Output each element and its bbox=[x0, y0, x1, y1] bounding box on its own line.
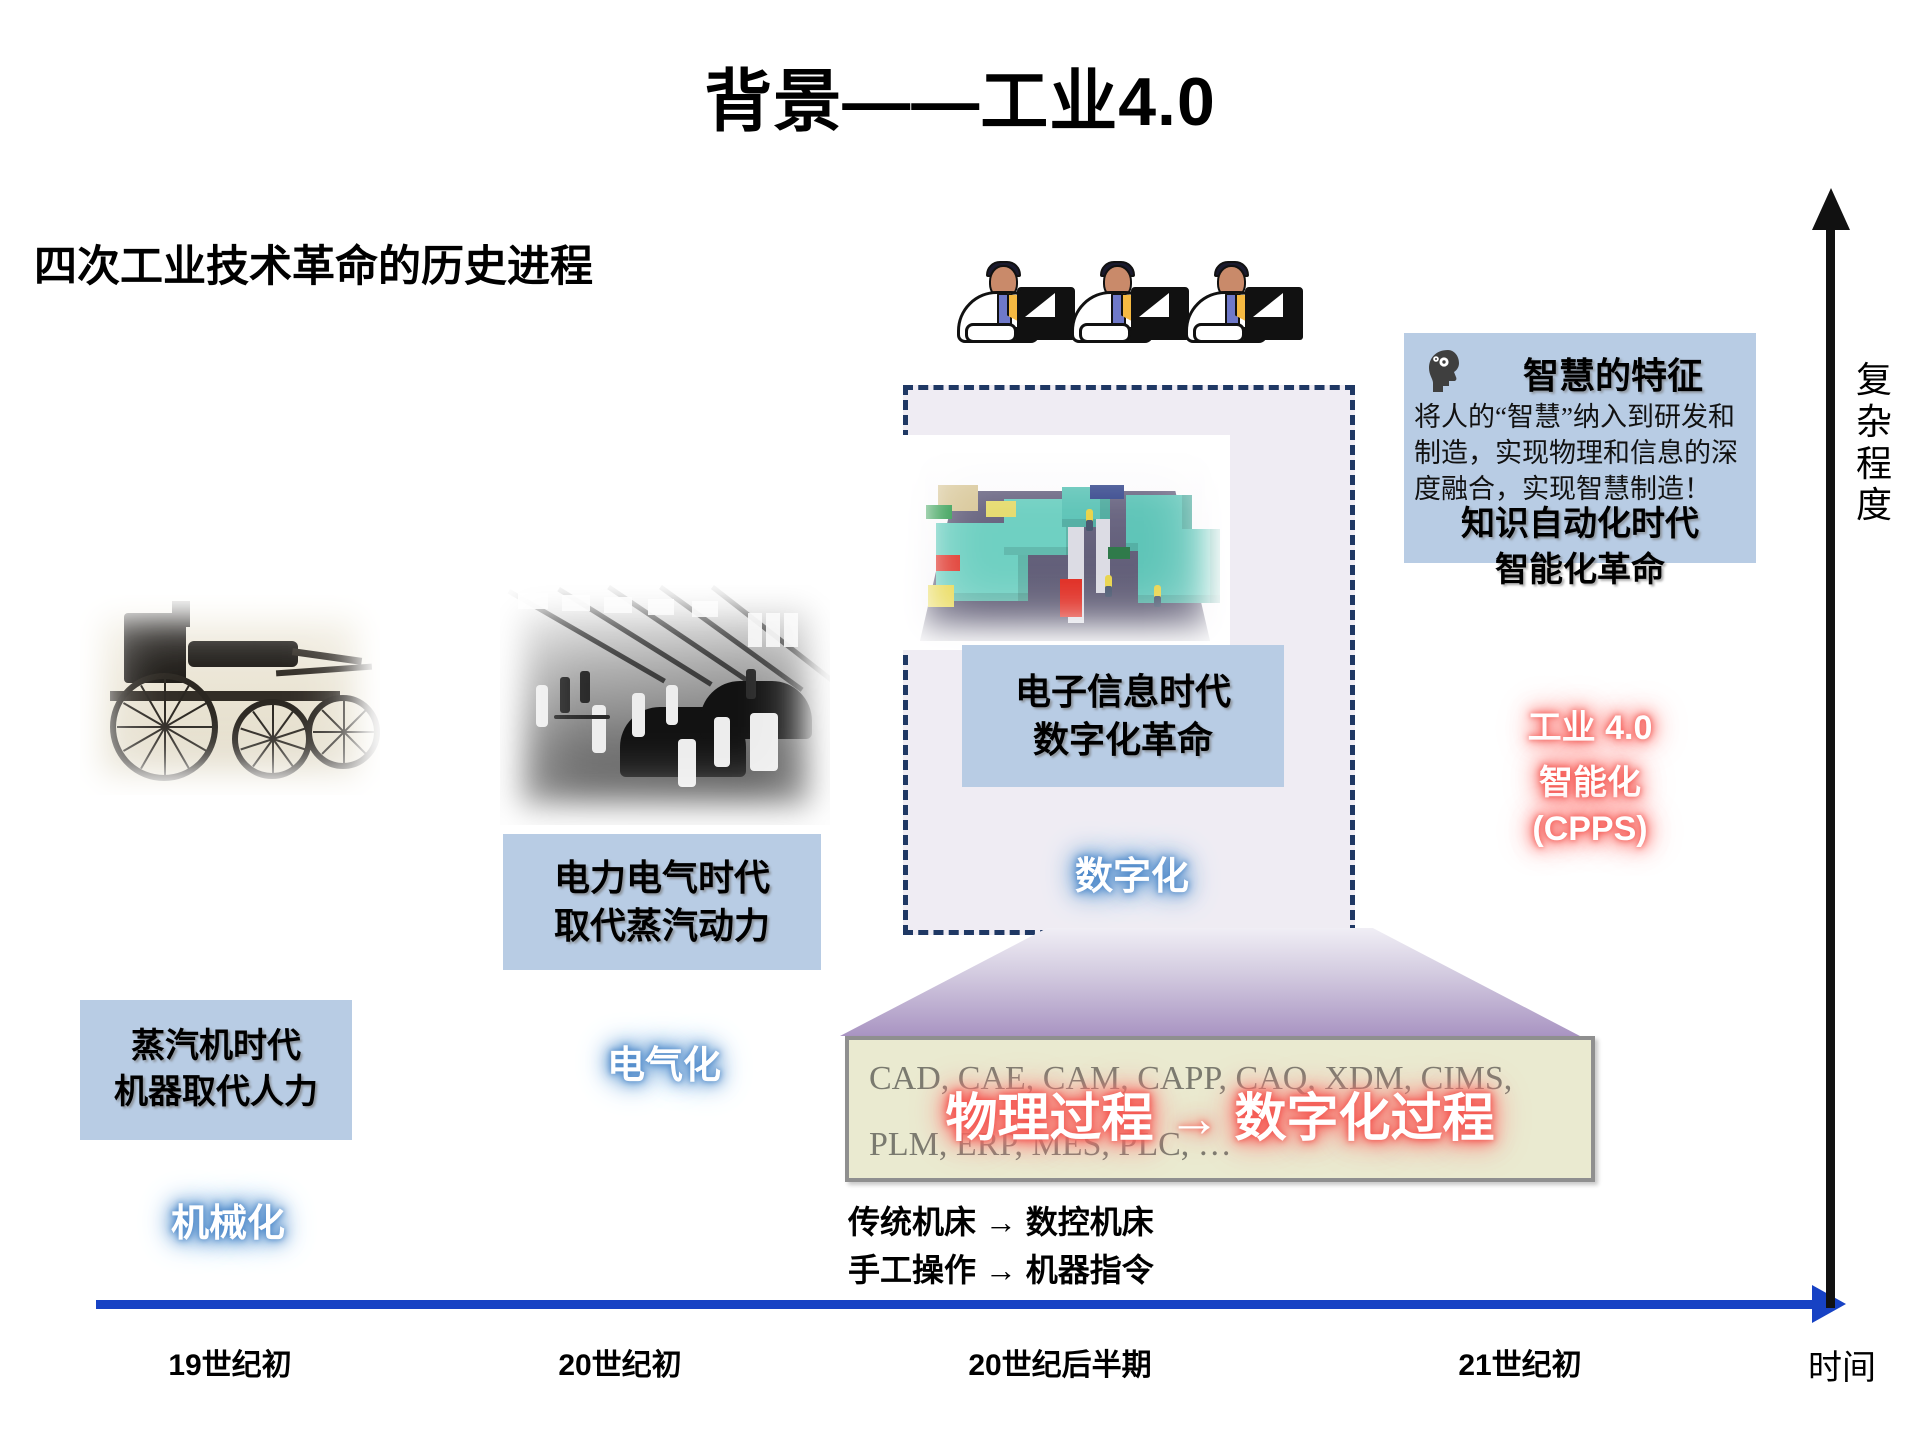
keyword-digitalization: 数字化 bbox=[1056, 845, 1208, 900]
era-line-2: 智能化革命 bbox=[1404, 547, 1756, 593]
digital-factory-render bbox=[900, 435, 1230, 650]
machine-tool-notes: 传统机床 → 数控机床 手工操作 → 机器指令 bbox=[848, 1198, 1154, 1294]
era-line-2: 数字化革命 bbox=[1033, 716, 1213, 764]
smart-features-body: 将人的“智慧”纳入到研发和制造，实现物理和信息的深度融合，实现智慧制造！ bbox=[1414, 399, 1750, 508]
machine-note-line-1: 传统机床 → 数控机床 bbox=[848, 1198, 1154, 1246]
people-at-computers-clipart bbox=[955, 263, 1310, 348]
digitalization-overlay-label: 物理过程 → 数字化过程 bbox=[865, 1076, 1575, 1151]
era-box-electricity: 电力电气时代 取代蒸汽动力 bbox=[503, 834, 821, 970]
complexity-axis-arrow bbox=[1812, 188, 1850, 230]
x-tick-label-0: 19世纪初 bbox=[110, 1340, 350, 1384]
complexity-axis-label: 复杂程度 bbox=[1848, 360, 1900, 527]
machine-note-line-2: 手工操作 → 机器指令 bbox=[848, 1246, 1154, 1294]
keyword-electrification: 电气化 bbox=[588, 1034, 740, 1089]
x-tick-label-3: 21世纪初 bbox=[1400, 1340, 1640, 1384]
x-tick-label-1: 20世纪初 bbox=[500, 1340, 740, 1384]
era-box-steam: 蒸汽机时代 机器取代人力 bbox=[80, 1000, 352, 1140]
smart-features-box: 智慧的特征 将人的“智慧”纳入到研发和制造，实现物理和信息的深度融合，实现智慧制… bbox=[1404, 333, 1756, 563]
head-with-gears-icon bbox=[1424, 347, 1472, 395]
keyword-industry40: 工业 4.0 bbox=[1500, 700, 1680, 749]
era-line-1: 蒸汽机时代 bbox=[131, 1024, 301, 1070]
keyword-intelligentization: 智能化 bbox=[1500, 755, 1680, 804]
era-line-2: 机器取代人力 bbox=[114, 1070, 318, 1116]
keyword-mechanization: 机械化 bbox=[152, 1192, 304, 1247]
keyword-cpps: (CPPS) bbox=[1500, 810, 1680, 849]
era-line-1: 知识自动化时代 bbox=[1404, 501, 1756, 547]
complexity-axis-line bbox=[1826, 228, 1835, 1308]
assembly-line-photo bbox=[500, 585, 830, 825]
time-axis-label: 时间 bbox=[1808, 1340, 1876, 1389]
era-line-1: 电力电气时代 bbox=[554, 854, 770, 902]
time-axis-line bbox=[96, 1300, 1820, 1309]
smart-features-title: 智慧的特征 bbox=[1482, 347, 1744, 399]
slide-canvas: 背景——工业4.0 四次工业技术革命的历史进程 bbox=[0, 0, 1920, 1440]
subtitle: 四次工业技术革命的历史进程 bbox=[34, 232, 593, 294]
page-title: 背景——工业4.0 bbox=[0, 46, 1920, 145]
x-tick-label-2: 20世纪后半期 bbox=[920, 1340, 1200, 1384]
era-line-2: 取代蒸汽动力 bbox=[554, 902, 770, 950]
person-at-computer-icon bbox=[955, 263, 1083, 348]
steam-engine-photo bbox=[80, 595, 380, 795]
person-at-computer-icon bbox=[1183, 263, 1311, 348]
era-box-intelligence: 知识自动化时代 智能化革命 bbox=[1404, 501, 1756, 593]
funnel-shape bbox=[840, 928, 1580, 1036]
era-box-digital: 电子信息时代 数字化革命 bbox=[962, 645, 1284, 787]
person-at-computer-icon bbox=[1069, 263, 1197, 348]
era-line-1: 电子信息时代 bbox=[1015, 668, 1231, 716]
